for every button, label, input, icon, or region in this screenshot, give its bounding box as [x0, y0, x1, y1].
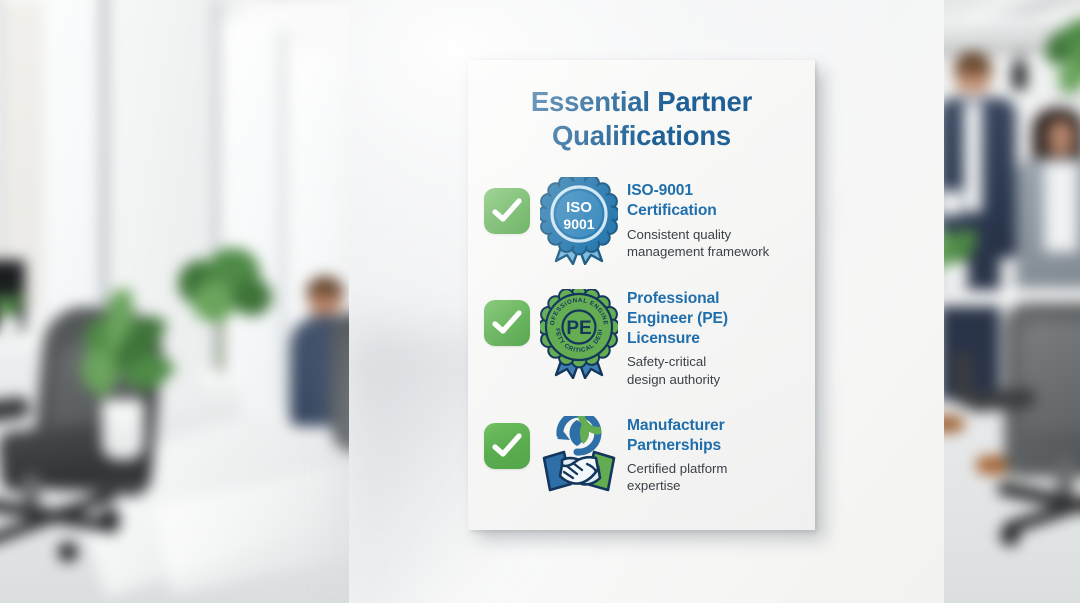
- wall-poster: Essential Partner Qualifications: [468, 60, 815, 530]
- iso-9001-description: Consistent quality management framework: [627, 226, 769, 260]
- iso-9001-rosette-badge-icon: ISO 9001: [540, 177, 618, 265]
- pe-description-line-2: design authority: [627, 371, 728, 388]
- poster-title-line-1: Essential Partner: [468, 85, 815, 119]
- iso-9001-text-block: ISO-9001 Certification Consistent qualit…: [627, 175, 769, 260]
- qualification-list: ISO 9001 ISO-9001 Certification Consiste…: [484, 175, 801, 526]
- pe-heading-line-3: Licensure: [627, 329, 728, 349]
- pe-heading-line-2: Engineer (PE): [627, 309, 728, 329]
- professional-engineer-rosette-badge-icon: PROFESSIONAL ENGINEER SAFETY CRITICAL DE…: [540, 289, 618, 377]
- qualification-item-professional-engineer: PROFESSIONAL ENGINEER SAFETY CRITICAL DE…: [484, 287, 801, 388]
- background-office-left: [0, 0, 349, 603]
- iso-9001-heading-line-1: ISO-9001: [627, 181, 769, 201]
- qualification-item-manufacturer-partnerships: Manufacturer Partnerships Certified plat…: [484, 410, 801, 504]
- check-mark-icon-pe: [484, 300, 530, 346]
- partnerships-description-line-1: Certified platform: [627, 460, 727, 477]
- iso-9001-description-line-1: Consistent quality: [627, 226, 769, 243]
- check-mark-icon-iso: [484, 188, 530, 234]
- iso-badge-text-bottom: 9001: [563, 216, 594, 232]
- pe-badge-center-text: PE: [566, 318, 591, 339]
- poster-title-line-2: Qualifications: [468, 119, 815, 153]
- check-mark-icon-partnerships: [484, 423, 530, 469]
- manufacturer-partnerships-description: Certified platform expertise: [627, 460, 727, 494]
- screenshot-scene: Essential Partner Qualifications: [0, 0, 1080, 603]
- manufacturer-partnerships-text-block: Manufacturer Partnerships Certified plat…: [627, 410, 727, 495]
- iso-badge-text-top: ISO: [566, 199, 592, 216]
- pe-description-line-1: Safety-critical: [627, 353, 728, 370]
- pe-heading-line-1: Professional: [627, 289, 728, 309]
- qualification-item-iso-9001: ISO 9001 ISO-9001 Certification Consiste…: [484, 175, 801, 265]
- professional-engineer-heading: Professional Engineer (PE) Licensure: [627, 289, 728, 348]
- professional-engineer-description: Safety-critical design authority: [627, 353, 728, 387]
- partnerships-heading-line-1: Manufacturer: [627, 416, 727, 436]
- manufacturer-partnerships-heading: Manufacturer Partnerships: [627, 416, 727, 456]
- poster-title: Essential Partner Qualifications: [468, 85, 815, 154]
- handshake-partnership-icon: [540, 416, 618, 504]
- iso-9001-heading: ISO-9001 Certification: [627, 181, 769, 221]
- partnerships-heading-line-2: Partnerships: [627, 436, 727, 456]
- background-office-right: [944, 0, 1080, 603]
- professional-engineer-text-block: Professional Engineer (PE) Licensure Saf…: [627, 287, 728, 388]
- iso-9001-heading-line-2: Certification: [627, 201, 769, 221]
- iso-9001-description-line-2: management framework: [627, 243, 769, 260]
- partnerships-description-line-2: expertise: [627, 477, 727, 494]
